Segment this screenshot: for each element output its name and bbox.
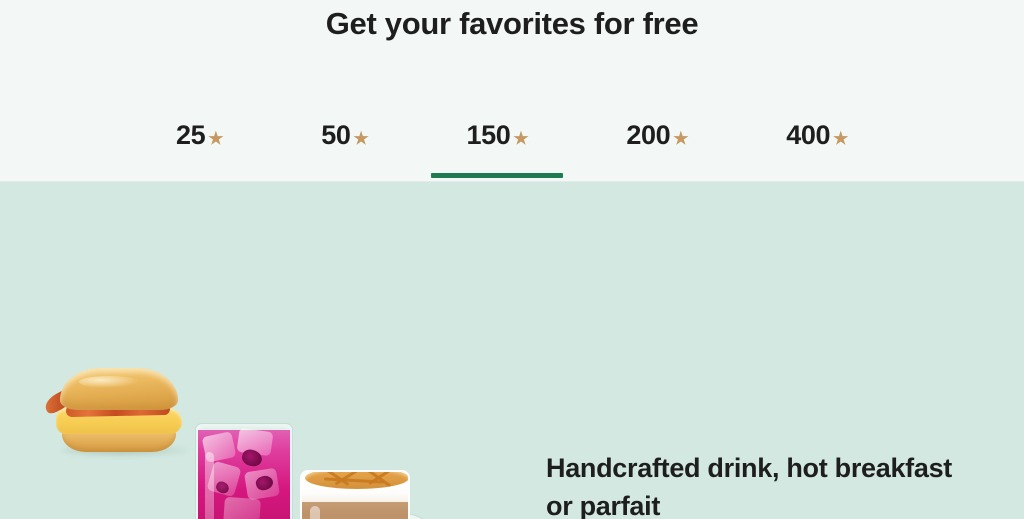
tab-value: 50 bbox=[321, 112, 350, 158]
tab-value: 400 bbox=[786, 112, 830, 158]
page-title: Get your favorites for free bbox=[0, 6, 1024, 42]
tab-value: 150 bbox=[467, 112, 511, 158]
ice-cube bbox=[223, 497, 261, 519]
star-icon: ★ bbox=[833, 130, 848, 147]
tab-label: 25 ★ bbox=[176, 112, 223, 158]
tab-label: 400 ★ bbox=[786, 112, 848, 158]
caramel-drizzle-icon bbox=[310, 470, 404, 487]
reward-heading: Handcrafted drink, hot breakfast or parf… bbox=[546, 449, 966, 519]
star-icon: ★ bbox=[353, 130, 368, 147]
tab-400-stars[interactable]: 400 ★ bbox=[772, 112, 862, 182]
glass-highlight bbox=[205, 452, 214, 519]
refresher-glass bbox=[196, 424, 292, 519]
tab-label: 200 ★ bbox=[626, 112, 688, 158]
glass-mug bbox=[300, 470, 410, 519]
tab-25-stars[interactable]: 25 ★ bbox=[162, 112, 237, 182]
reward-detail-band: Handcrafted drink, hot breakfast or parf… bbox=[0, 182, 1024, 519]
star-icon: ★ bbox=[208, 130, 223, 147]
star-icon: ★ bbox=[513, 130, 528, 147]
tab-label: 150 ★ bbox=[467, 112, 529, 158]
tab-value: 200 bbox=[626, 112, 670, 158]
tab-label: 50 ★ bbox=[321, 112, 368, 158]
sandwich-top-bun bbox=[60, 368, 178, 410]
reward-text-panel: Handcrafted drink, hot breakfast or parf… bbox=[546, 449, 966, 519]
caramel-macchiato-image bbox=[300, 470, 418, 519]
star-tier-tablist: 25 ★ 50 ★ 150 ★ bbox=[162, 112, 862, 182]
tab-150-stars[interactable]: 150 ★ bbox=[453, 112, 543, 182]
dragonfruit-refresher-image bbox=[196, 424, 292, 519]
product-photo bbox=[0, 182, 512, 519]
star-icon: ★ bbox=[673, 130, 688, 147]
tab-value: 25 bbox=[176, 112, 205, 158]
tab-active-underline bbox=[431, 173, 563, 178]
mug-highlight bbox=[310, 506, 320, 519]
breakfast-sandwich-image bbox=[48, 364, 188, 454]
rewards-tier-panel: Get your favorites for free 25 ★ 50 ★ 15… bbox=[0, 0, 1024, 519]
tab-50-stars[interactable]: 50 ★ bbox=[307, 112, 382, 182]
tab-200-stars[interactable]: 200 ★ bbox=[612, 112, 702, 182]
header-band: Get your favorites for free 25 ★ 50 ★ 15… bbox=[0, 0, 1024, 182]
